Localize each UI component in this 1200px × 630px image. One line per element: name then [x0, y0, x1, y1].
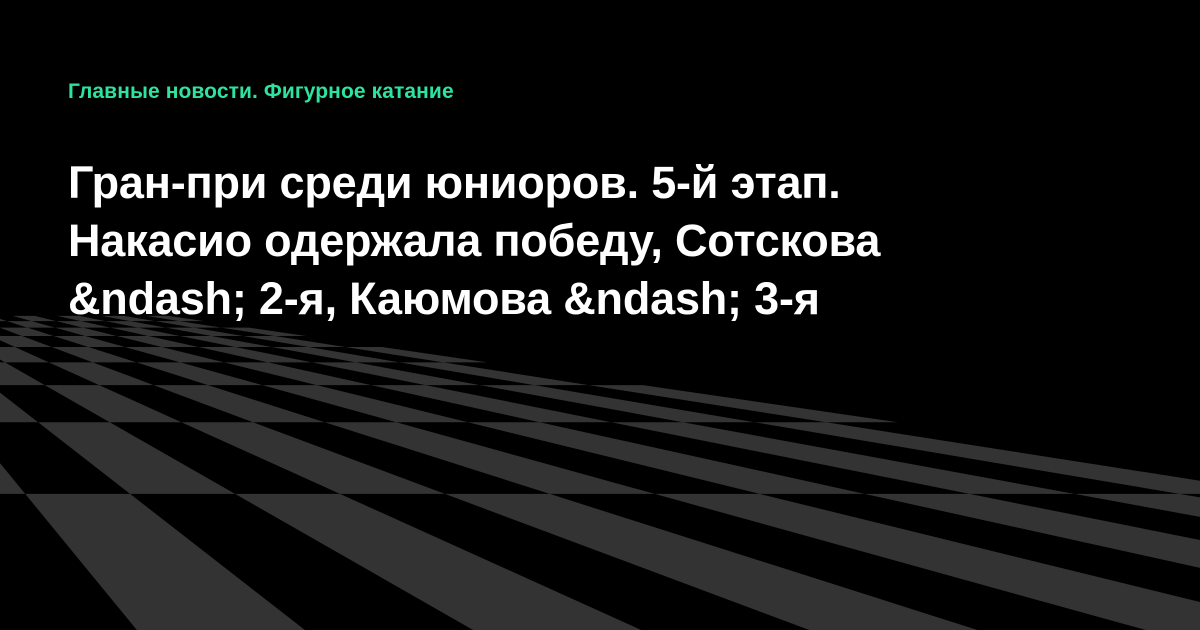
headline-line-1: Гран-при среди юниоров. 5-й этап. [68, 154, 1068, 212]
checker-tile [125, 347, 224, 362]
checker-tile [0, 385, 38, 422]
checker-tile [0, 316, 7, 321]
checker-tile [611, 422, 1074, 494]
checker-tile [468, 422, 865, 494]
checker-tile [13, 316, 57, 321]
checker-tile [0, 422, 25, 494]
kicker-label: Главные новости. Фигурное катание [68, 79, 454, 105]
checker-tile [110, 328, 179, 336]
checker-tile [221, 328, 306, 336]
checker-tile [0, 336, 52, 347]
checker-tile [325, 422, 655, 494]
checker-tile [371, 385, 611, 422]
checker-tile [180, 336, 272, 347]
checker-tile [589, 385, 898, 422]
checker-tile [7, 321, 55, 328]
checker-tile [0, 362, 45, 385]
checker-tile [198, 347, 311, 362]
checker-tile [445, 494, 1166, 630]
checker-tile [235, 494, 774, 630]
checker-tile [154, 385, 325, 422]
checker-tile [181, 422, 445, 494]
checker-tile [480, 385, 755, 422]
checker-tile [865, 494, 1200, 630]
checker-tile [312, 362, 480, 385]
checker-tile [55, 328, 117, 336]
page-title: Гран-при среди юниоров. 5-й этап. Накаси… [68, 154, 1068, 328]
checker-tile [243, 336, 345, 347]
checker-tile [117, 336, 199, 347]
checker-tile [166, 328, 243, 336]
checker-tile [49, 362, 154, 385]
headline-line-2: Накасио одержала победу, Сотскова [68, 212, 1068, 270]
checker-tile [224, 362, 371, 385]
checker-tile [399, 362, 588, 385]
headline-line-3: &ndash; 2-я, Каюмова &ndash; 3-я [68, 270, 1068, 328]
checker-tile [345, 347, 487, 362]
checker-tile [0, 347, 49, 362]
checker-tile [52, 347, 137, 362]
checker-tile [1074, 494, 1200, 630]
checker-tile [272, 347, 400, 362]
checker-tile [0, 328, 54, 336]
checker-tile [754, 422, 1200, 494]
checker-tile [25, 494, 382, 630]
checker-tile [262, 385, 468, 422]
checker-tile [45, 385, 182, 422]
checker-tile [38, 422, 235, 494]
checker-tile [137, 362, 263, 385]
checker-tile [54, 336, 125, 347]
share-card: Главные новости. Фигурное катание Гран-п… [0, 0, 1200, 630]
checker-tile [655, 494, 1200, 630]
